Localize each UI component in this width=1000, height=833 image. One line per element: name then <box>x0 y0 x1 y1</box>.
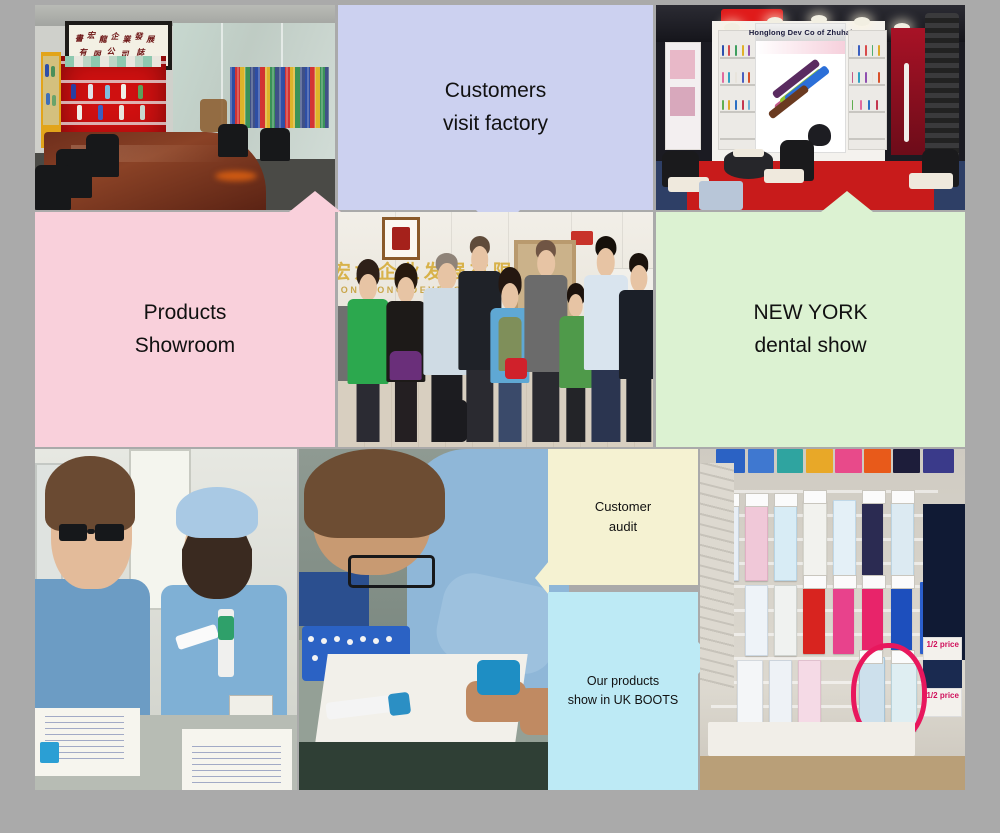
eyeglasses-icon <box>348 555 435 588</box>
price-tag <box>862 490 886 504</box>
store-floor <box>700 756 965 790</box>
office-chair <box>260 128 290 161</box>
product-box <box>893 449 920 473</box>
booth-sign-text: Honglong Dev Co of Zhuhai <box>749 28 853 37</box>
product-pack <box>862 582 883 654</box>
price-tag <box>803 490 827 504</box>
product-box <box>748 449 775 473</box>
photo-customers-group: 宏龙企业发展有限公司 HONGLONG DEVELOPMENT CO LTD <box>338 212 653 447</box>
callout-line-2: Showroom <box>135 330 235 363</box>
photo-uk-boots-shelf: 1/2 price 1/2 price <box>700 449 965 790</box>
product-box <box>806 449 833 473</box>
product-pack <box>803 582 824 654</box>
electric-toothbrush <box>477 660 520 694</box>
person <box>385 259 426 442</box>
callout-arrow-up-icon <box>821 191 873 212</box>
callout-line-2: show in UK BOOTS <box>568 691 678 710</box>
callout-line-2: visit factory <box>443 108 548 141</box>
office-chair <box>35 165 71 210</box>
price-tag <box>891 490 915 504</box>
table-items <box>733 149 764 157</box>
product-box <box>923 449 955 473</box>
eyeglasses-icon <box>95 524 124 541</box>
product-pack <box>774 504 797 581</box>
half-price-text: 1/2 price <box>926 691 958 700</box>
callout-line-2: dental show <box>754 330 866 363</box>
callout-line-1: Customers <box>445 75 547 108</box>
product-pack <box>769 660 792 730</box>
structural-column <box>925 13 959 161</box>
photo-audit-interview <box>35 449 297 790</box>
half-price-promo: 1/2 price <box>923 688 962 717</box>
chair-seat <box>909 173 952 189</box>
red-roll-up-banner <box>891 28 925 155</box>
price-tag <box>891 575 915 589</box>
collage: 書宏龍 企業發 展有限 公司誌 <box>35 5 965 790</box>
product-pack <box>833 582 854 654</box>
product-pack <box>774 585 797 655</box>
photo-showroom-meeting-room: 書宏龍 企業發 展有限 公司誌 <box>35 5 335 210</box>
half-price-text: 1/2 price <box>926 640 958 649</box>
product-pack <box>798 660 821 730</box>
booth-sign: Honglong Dev Co of Zhuhai <box>756 24 846 42</box>
product-box <box>777 449 804 473</box>
auditor-hair <box>304 449 444 538</box>
product-pack <box>803 500 826 580</box>
photo-new-york-booth: Honglong Dev Co of Zhuhai <box>656 5 965 210</box>
left-shelf-unit <box>718 30 757 151</box>
person <box>347 259 388 442</box>
product-pack <box>862 500 883 578</box>
price-tag <box>745 493 769 507</box>
product-pack <box>745 585 768 655</box>
right-shelf-unit <box>848 30 887 151</box>
callout-uk-boots: Our products show in UK BOOTS <box>548 592 698 790</box>
booth-banner: Honglong Dev Co of Zhuhai <box>755 23 847 152</box>
person <box>618 250 653 443</box>
callout-line-1: Customer <box>595 497 651 517</box>
callout-line-1: Our products <box>587 672 659 691</box>
bench-edge <box>299 742 569 790</box>
product-pack <box>745 504 768 581</box>
product-wall-gloss <box>230 67 329 129</box>
callout-customers-visit-factory: Customers visit factory <box>338 5 653 210</box>
product-box <box>864 449 891 473</box>
chair-seat <box>764 169 804 183</box>
callout-line-1: Products <box>144 297 227 330</box>
eyeglasses-icon <box>59 524 88 541</box>
form-grid <box>192 742 281 783</box>
backpack <box>436 400 468 442</box>
price-tag <box>803 575 827 589</box>
product-box <box>835 449 862 473</box>
product-pack <box>891 500 914 580</box>
callout-customer-audit: Customer audit <box>548 449 698 585</box>
toothbrush-cap <box>218 616 234 640</box>
shelf-base <box>708 722 915 756</box>
side-display-wing <box>700 463 734 688</box>
photo-audit-inspection <box>299 449 569 790</box>
callout-line-2: audit <box>609 517 637 537</box>
red-display-cabinet <box>61 56 166 142</box>
callout-new-york-dental-show: NEW YORK dental show <box>656 212 965 447</box>
office-chair <box>218 124 248 157</box>
product-pack <box>833 500 856 580</box>
price-tag <box>774 493 798 507</box>
price-tag <box>833 575 857 589</box>
worker-cap <box>176 487 257 538</box>
collage-canvas: 書宏龍 企業發 展有限 公司誌 <box>0 0 1000 833</box>
handbag <box>505 358 527 379</box>
callout-products-showroom: Products Showroom <box>35 212 335 447</box>
callout-arrow-left-icon <box>535 561 549 595</box>
company-logo <box>382 217 420 261</box>
callout-line-1: NEW YORK <box>754 297 868 330</box>
price-tag <box>862 575 886 589</box>
blue-chair <box>699 181 742 210</box>
auditor-hair <box>45 456 134 531</box>
callout-arrow-up-icon <box>289 191 341 212</box>
product-pack <box>737 660 763 730</box>
